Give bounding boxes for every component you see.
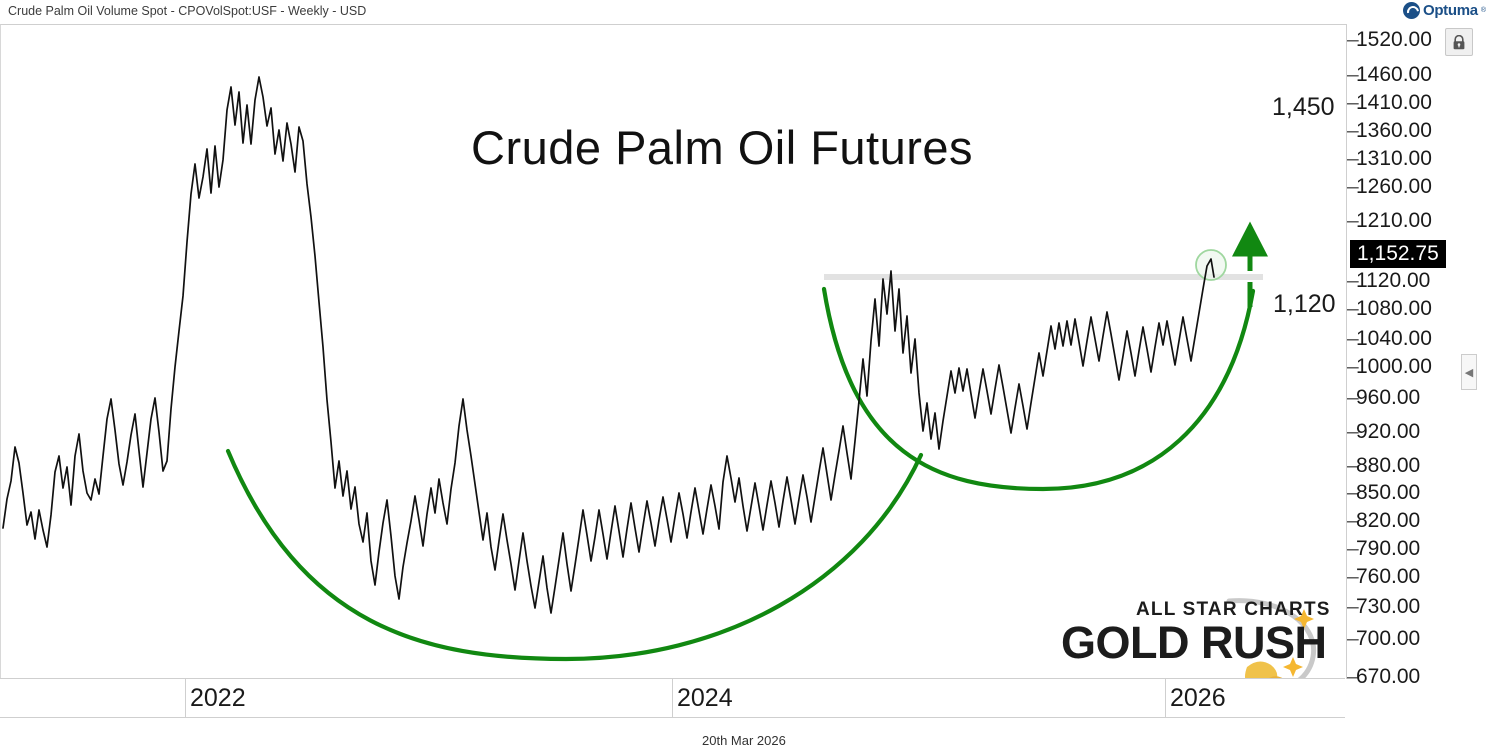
price-tick: –760.00 <box>1347 566 1420 588</box>
price-tick-label: 850.00 <box>1356 481 1420 504</box>
price-tick-label: 670.00 <box>1356 665 1420 688</box>
last-price-tag: 1,152.75 <box>1350 240 1446 268</box>
tick-dash-icon: – <box>1347 29 1356 51</box>
lock-icon[interactable] <box>1445 28 1473 56</box>
chart-title: Crude Palm Oil Futures <box>471 120 973 175</box>
price-tick-label: 1520.00 <box>1356 28 1432 51</box>
tick-dash-icon: – <box>1347 666 1356 688</box>
optuma-logo: Optuma ® <box>1403 2 1486 19</box>
price-tick-label: 1210.00 <box>1356 209 1432 232</box>
price-tick: –1310.00 <box>1347 148 1432 170</box>
price-tick-label: 1460.00 <box>1356 63 1432 86</box>
title-bar: Crude Palm Oil Volume Spot - CPOVolSpot:… <box>0 0 1494 24</box>
tick-dash-icon: – <box>1347 270 1356 292</box>
price-tick: –1460.00 <box>1347 64 1432 86</box>
tick-dash-icon: – <box>1347 328 1356 350</box>
tick-dash-icon: – <box>1347 64 1356 86</box>
chevron-left-icon[interactable]: ◀ <box>1461 354 1477 390</box>
price-tick: –1410.00 <box>1347 92 1432 114</box>
price-tick: –700.00 <box>1347 628 1420 650</box>
price-tick-label: 1080.00 <box>1356 297 1432 320</box>
annotation-target-price: 1,450 <box>1272 93 1335 122</box>
price-tick: –1000.00 <box>1347 356 1432 378</box>
optuma-chart-window: Crude Palm Oil Volume Spot - CPOVolSpot:… <box>0 0 1494 756</box>
price-tick-label: 1120.00 <box>1356 269 1430 292</box>
tick-dash-icon: – <box>1347 596 1356 618</box>
price-tick-label: 880.00 <box>1356 454 1420 477</box>
optuma-swirl-icon <box>1403 2 1420 19</box>
tick-dash-icon: – <box>1347 421 1356 443</box>
price-axis[interactable]: –1520.00–1460.00–1410.00–1360.00–1310.00… <box>1346 24 1477 678</box>
tick-dash-icon: – <box>1347 210 1356 232</box>
price-tick: –1520.00 <box>1347 29 1432 51</box>
tick-dash-icon: – <box>1347 387 1356 409</box>
price-tick: –1040.00 <box>1347 328 1432 350</box>
tick-dash-icon: – <box>1347 628 1356 650</box>
price-tick-label: 920.00 <box>1356 420 1420 443</box>
footer-date-label: 20th Mar 2026 <box>702 733 786 748</box>
annotation-breakout-price: 1,120 <box>1273 290 1336 319</box>
chart-plot-area[interactable]: Crude Palm Oil Futures 1,450 1,120 ALL S… <box>0 24 1347 679</box>
optuma-trademark-icon: ® <box>1481 7 1486 14</box>
tick-dash-icon: – <box>1347 298 1356 320</box>
price-tick: –920.00 <box>1347 421 1420 443</box>
tick-dash-icon: – <box>1347 92 1356 114</box>
price-tick-label: 1260.00 <box>1356 175 1432 198</box>
price-tick: –670.00 <box>1347 666 1420 688</box>
tick-dash-icon: – <box>1347 455 1356 477</box>
date-tick-label: 2026 <box>1165 684 1226 713</box>
tick-dash-icon: – <box>1347 148 1356 170</box>
price-tick-label: 760.00 <box>1356 565 1420 588</box>
breakout-highlight-circle <box>1196 250 1226 280</box>
price-tick-label: 790.00 <box>1356 537 1420 560</box>
price-tick: –960.00 <box>1347 387 1420 409</box>
price-tick-label: 1000.00 <box>1356 355 1432 378</box>
watermark-line-2: GOLD RUSH <box>1061 617 1327 669</box>
tick-dash-icon: – <box>1347 356 1356 378</box>
price-tick-label: 730.00 <box>1356 595 1420 618</box>
date-tick-label: 2024 <box>672 684 733 713</box>
pattern-arc-small <box>824 289 1253 489</box>
price-tick-label: 960.00 <box>1356 386 1420 409</box>
price-tick: –820.00 <box>1347 510 1420 532</box>
tick-dash-icon: – <box>1347 120 1356 142</box>
price-tick: –730.00 <box>1347 596 1420 618</box>
price-tick: –1210.00 <box>1347 210 1432 232</box>
price-tick: –850.00 <box>1347 482 1420 504</box>
tick-dash-icon: – <box>1347 176 1356 198</box>
price-tick: –1120.00 <box>1347 270 1430 292</box>
date-tick-label: 2022 <box>185 684 246 713</box>
tick-dash-icon: – <box>1347 482 1356 504</box>
price-tick-label: 1360.00 <box>1356 119 1432 142</box>
price-tick: –880.00 <box>1347 455 1420 477</box>
price-tick: –1260.00 <box>1347 176 1432 198</box>
watermark-logo: ALL STAR CHARTS GOLD RUSH <box>1041 583 1341 679</box>
tick-dash-icon: – <box>1347 510 1356 532</box>
tick-dash-icon: – <box>1347 566 1356 588</box>
price-tick-label: 700.00 <box>1356 627 1420 650</box>
price-tick: –1360.00 <box>1347 120 1432 142</box>
lock-glyph <box>1452 35 1466 50</box>
price-tick-label: 1310.00 <box>1356 147 1432 170</box>
price-tick-label: 820.00 <box>1356 509 1420 532</box>
date-axis[interactable]: 202220242026 <box>0 678 1345 718</box>
window-title: Crude Palm Oil Volume Spot - CPOVolSpot:… <box>8 4 366 18</box>
tick-dash-icon: – <box>1347 538 1356 560</box>
price-tick: –1080.00 <box>1347 298 1432 320</box>
price-tick-label: 1410.00 <box>1356 91 1432 114</box>
optuma-wordmark: Optuma <box>1423 2 1478 19</box>
price-tick: –790.00 <box>1347 538 1420 560</box>
price-tick-label: 1040.00 <box>1356 327 1432 350</box>
